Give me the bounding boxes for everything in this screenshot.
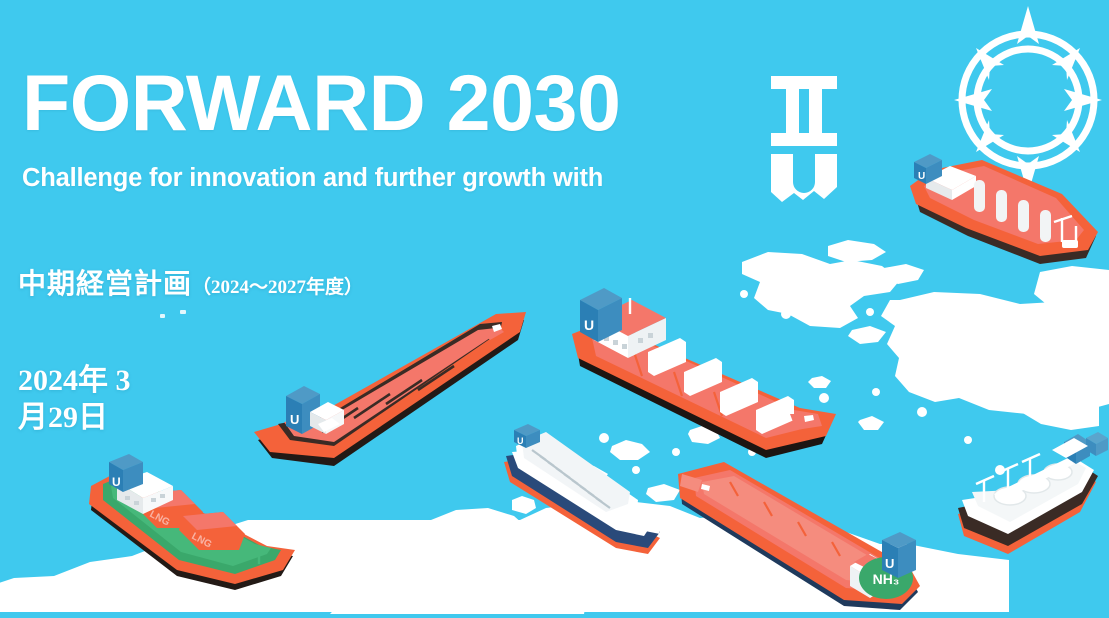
headline-row: FORWARD 2030 <box>22 62 620 144</box>
svg-text:U: U <box>290 412 299 427</box>
subtitle: Challenge for innovation and further gro… <box>22 163 603 193</box>
slide-canvas: FORWARD 2030 Challenge for innovation an… <box>0 0 1109 618</box>
ube-corporation-logo-icon <box>765 74 843 202</box>
plan-title: 中期経営計画 <box>18 269 192 300</box>
ship-lng-carrier-southeast[interactable] <box>948 418 1109 583</box>
plan-period: （2024〜2027年度） <box>192 277 363 298</box>
date-line-2: 月29日 <box>18 399 168 436</box>
svg-text:U: U <box>517 436 524 446</box>
svg-text:U: U <box>584 317 594 333</box>
ship-tanker-northeast[interactable]: U <box>890 140 1109 290</box>
decorative-speck <box>160 314 165 318</box>
ship-lng-carrier-southwest[interactable]: LNG LNG U <box>85 450 315 600</box>
presentation-date: 2024年 3 月29日 <box>18 362 168 436</box>
svg-text:U: U <box>918 171 925 182</box>
page-title: FORWARD 2030 <box>22 62 620 144</box>
svg-text:U: U <box>885 556 894 571</box>
plan-title-row: 中期経営計画（2024〜2027年度） <box>18 262 363 302</box>
date-line-1: 2024年 3 <box>18 362 168 399</box>
decorative-speck <box>180 310 186 314</box>
ship-ammonia-carrier[interactable]: NH₃ U <box>668 458 938 618</box>
svg-text:U: U <box>112 475 121 489</box>
ship-passenger-ferry[interactable]: U <box>488 424 693 579</box>
